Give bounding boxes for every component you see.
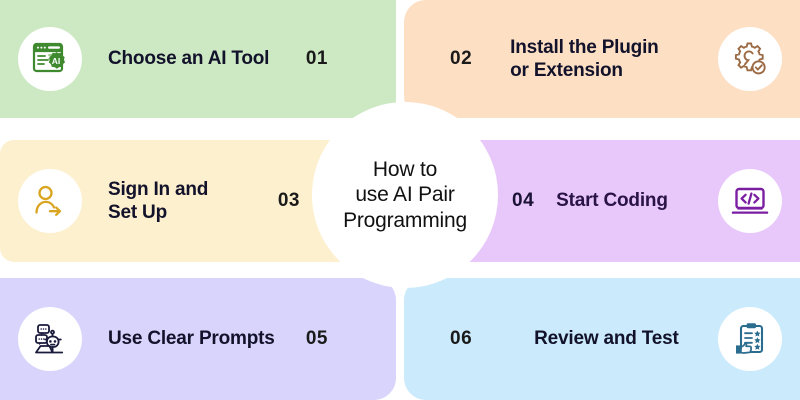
step-card-01[interactable]: AI Choose an AI Tool 01: [0, 0, 396, 118]
step-card-06[interactable]: 06 Review and Test: [404, 278, 800, 400]
step-card-05[interactable]: Use Clear Prompts 05: [0, 278, 396, 400]
infographic-root: AI Choose an AI Tool 01 02 Install the P…: [0, 0, 800, 400]
steps-row-1: AI Choose an AI Tool 01 02 Install the P…: [0, 0, 800, 118]
steps-row-3: Use Clear Prompts 05 06 Review and Test: [0, 278, 800, 400]
step-title-06: Review and Test: [534, 327, 678, 350]
user-signin-arrow-icon: [18, 169, 82, 233]
step-number-04: 04: [512, 190, 534, 212]
step-title-01: Choose an AI Tool: [108, 47, 269, 70]
ai-browser-window-icon: AI: [18, 27, 82, 91]
step-title-05: Use Clear Prompts: [108, 327, 275, 350]
step-number-05: 05: [306, 328, 328, 350]
step-title-03: Sign In and Set Up: [108, 178, 208, 224]
step-number-02: 02: [450, 48, 472, 70]
clipboard-checklist-stars-icon: [718, 307, 782, 371]
robot-chat-laptop-icon: [18, 307, 82, 371]
step-title-04: Start Coding: [556, 189, 668, 212]
svg-text:AI: AI: [52, 56, 61, 66]
gear-wrench-check-icon: [718, 27, 782, 91]
step-title-02: Install the Plugin or Extension: [510, 36, 658, 82]
step-number-03: 03: [278, 190, 300, 212]
laptop-code-icon: [718, 169, 782, 233]
step-number-01: 01: [306, 48, 328, 70]
step-card-02[interactable]: 02 Install the Plugin or Extension: [404, 0, 800, 118]
center-title: How to use AI Pair Programming: [335, 157, 475, 234]
step-number-06: 06: [450, 328, 472, 350]
center-circle: How to use AI Pair Programming: [320, 110, 490, 280]
